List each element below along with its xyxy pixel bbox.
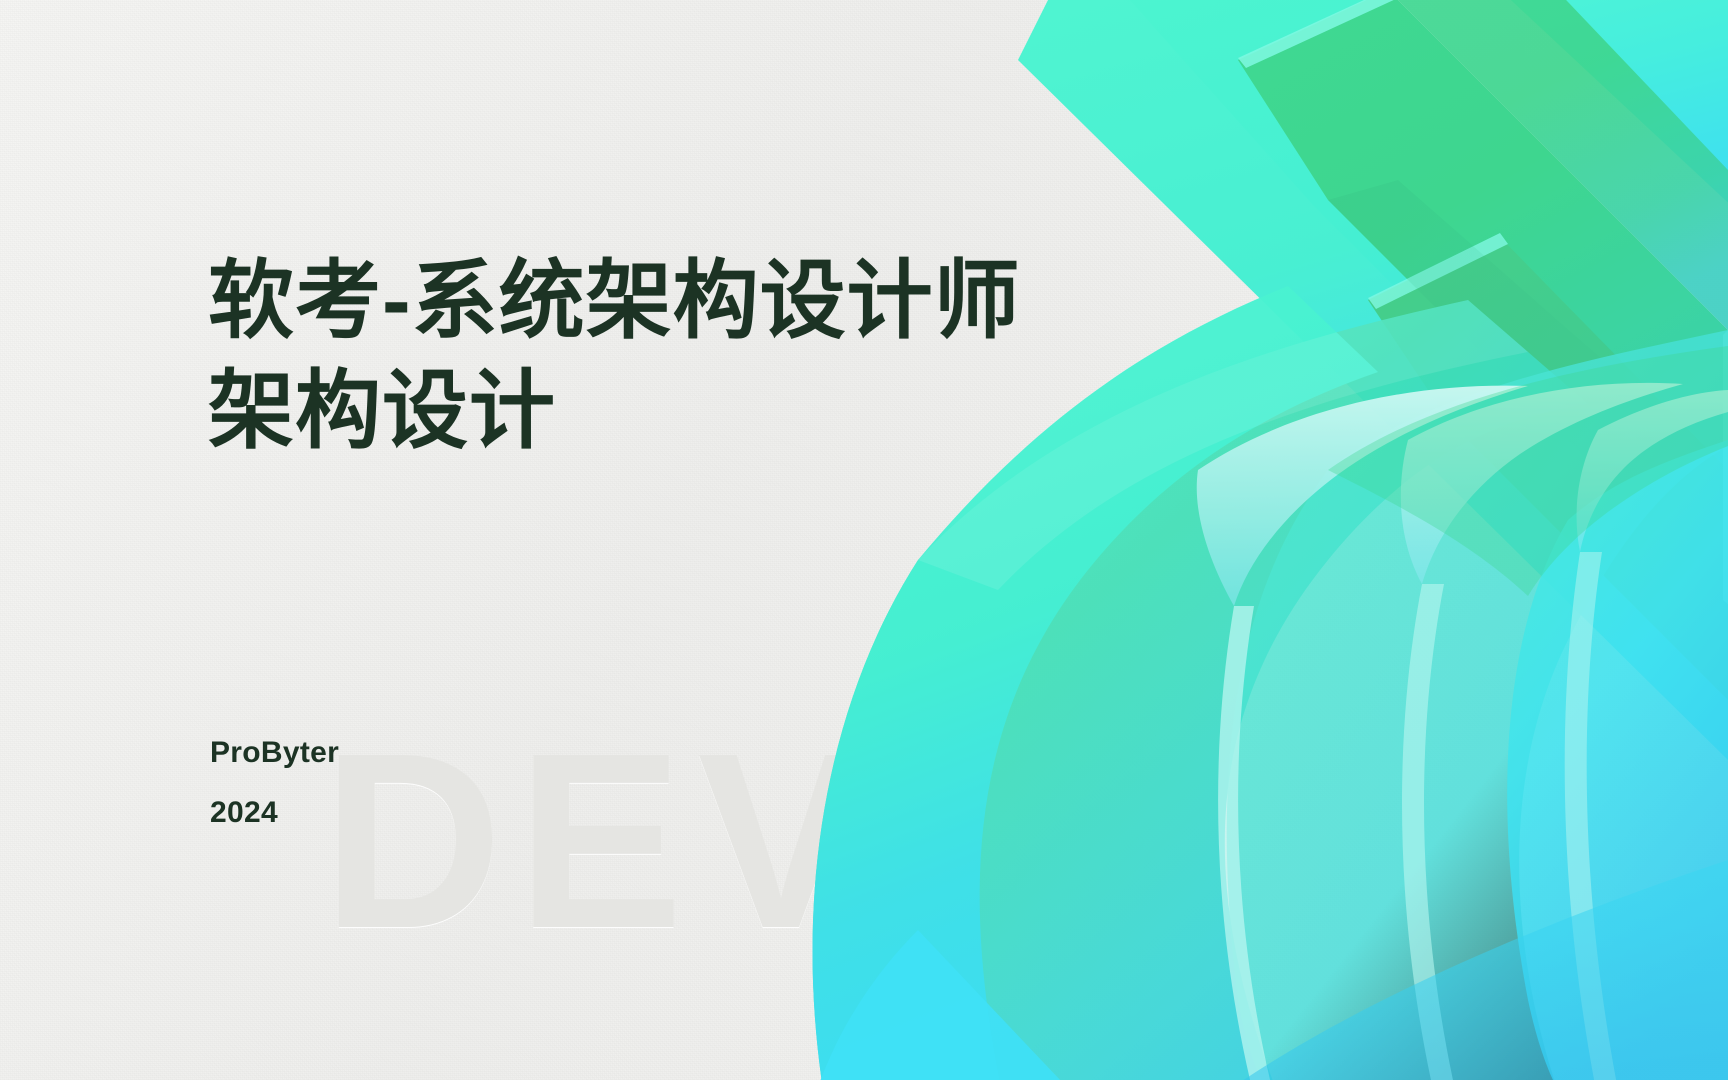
year-label: 2024 (210, 798, 339, 828)
title-line-1: 软考-系统架构设计师 (208, 246, 1188, 356)
byline: ProByter 2024 (210, 738, 339, 828)
author-name: ProByter (210, 738, 339, 768)
title-line-2: 架构设计 (208, 356, 1188, 466)
abstract-3d-ribbon-graphic (768, 0, 1728, 1080)
page-title: 软考-系统架构设计师 架构设计 (208, 246, 1188, 466)
title-slide: DEV (0, 0, 1728, 1080)
